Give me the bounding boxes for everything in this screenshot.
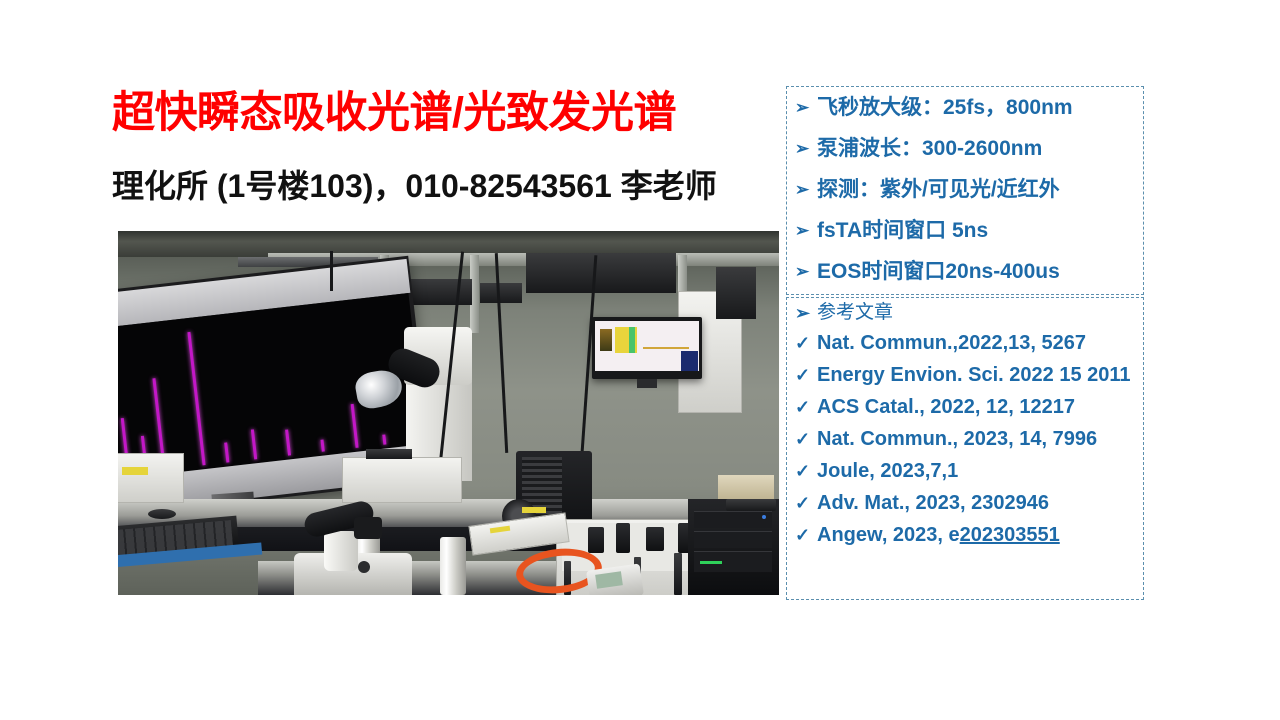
reference-item: ✓Joule, 2023,7,1	[787, 456, 1143, 488]
reference-item-label: Nat. Commun., 2023, 14, 7996	[817, 427, 1143, 451]
photo-dark-module-right	[716, 267, 756, 319]
photo-monitor-thumbnail	[600, 329, 612, 351]
check-bullet-icon: ✓	[795, 459, 817, 483]
photo-monitor-trace	[643, 347, 689, 349]
photo-optic-mount-b	[616, 523, 630, 553]
reference-text-underlined[interactable]: 202303551	[960, 524, 1060, 546]
photo-optic-mount-c	[646, 527, 664, 551]
photo-optic-mount-a	[588, 527, 604, 553]
reference-item: ✓Angew, 2023, e202303551	[787, 520, 1143, 552]
spec-item: ➢泵浦波长：300-2600nm	[787, 128, 1143, 169]
page-subtitle: 理化所 (1号楼103)，010-82543561 李老师	[112, 165, 802, 207]
check-bullet-icon: ✓	[795, 523, 817, 547]
spec-item-label: 探测：紫外/可见光/近红外	[817, 177, 1143, 203]
reference-item-label: ACS Catal., 2022, 12, 12217	[817, 395, 1143, 419]
specifications-panel: ➢飞秒放大级：25fs，800nm➢泵浦波长：300-2600nm➢探测：紫外/…	[786, 86, 1144, 295]
reference-item: ✓Energy Envion. Sci. 2022 15 2011	[787, 360, 1143, 392]
photo-shelf-instrument-a	[410, 279, 472, 305]
photo-monitor-blue-panel	[681, 351, 698, 371]
photo-mouse	[148, 509, 176, 519]
reference-item-label: Joule, 2023,7,1	[817, 459, 1143, 483]
photo-microscope-focus-knob	[358, 561, 370, 573]
reference-item-label: Nat. Commun.,2022,13, 5267	[817, 331, 1143, 355]
reference-item: ✓ACS Catal., 2022, 12, 12217	[787, 392, 1143, 424]
photo-spectrometer-box	[342, 457, 462, 503]
photo-rack-slot-b	[694, 531, 772, 548]
spec-item-label: EOS时间窗口20ns-400us	[817, 259, 1143, 285]
photo-secondary-monitor-stand	[637, 379, 657, 388]
spec-item-label: 泵浦波长：300-2600nm	[817, 136, 1143, 162]
spec-item: ➢探测：紫外/可见光/近红外	[787, 169, 1143, 210]
photo-cable-d	[330, 251, 333, 291]
arrow-bullet-icon: ➢	[795, 95, 817, 121]
check-bullet-icon: ✓	[795, 395, 817, 419]
arrow-bullet-icon: ➢	[795, 218, 817, 244]
spec-item: ➢飞秒放大级：25fs，800nm	[787, 87, 1143, 128]
photo-rack-keyboard	[726, 499, 776, 511]
photo-rack-led-green	[700, 561, 722, 564]
arrow-bullet-icon: ➢	[795, 301, 817, 325]
reference-item: ✓Adv. Mat., 2023, 2302946	[787, 488, 1143, 520]
reference-item-label: Angew, 2023, e202303551	[817, 523, 1143, 547]
photo-overhead-box	[526, 253, 676, 293]
arrow-bullet-icon: ➢	[795, 136, 817, 162]
spec-item-label: fsTA时间窗口 5ns	[817, 218, 1143, 244]
photo-optic-post-c	[674, 553, 682, 595]
photo-spectrometer-top	[366, 449, 412, 459]
photo-cylinder-post-b	[440, 537, 466, 595]
reference-item-label: Energy Envion. Sci. 2022 15 2011	[817, 363, 1143, 387]
lab-photograph: DELL	[118, 231, 779, 595]
check-bullet-icon: ✓	[795, 363, 817, 387]
photo-secondary-monitor-screen	[595, 321, 699, 371]
photo-rack-led-blue	[762, 515, 766, 519]
spec-item: ➢fsTA时间窗口 5ns	[787, 210, 1143, 251]
references-heading-label: 参考文章	[817, 301, 1143, 325]
check-bullet-icon: ✓	[795, 427, 817, 451]
page-title: 超快瞬态吸收光谱/光致发光谱	[112, 86, 792, 140]
photo-foreground-microscope-eyepiece	[354, 517, 382, 539]
photo-monitor-green-band	[629, 327, 635, 353]
photo-foreground-microscope-neck	[324, 531, 358, 571]
arrow-bullet-icon: ➢	[795, 259, 817, 285]
spec-item-label: 飞秒放大级：25fs，800nm	[817, 95, 1143, 121]
spec-item: ➢EOS时间窗口20ns-400us	[787, 251, 1143, 292]
reference-item: ✓Nat. Commun.,2022,13, 5267	[787, 328, 1143, 360]
specifications-list: ➢飞秒放大级：25fs，800nm➢泵浦波长：300-2600nm➢探测：紫外/…	[787, 87, 1143, 292]
check-bullet-icon: ✓	[795, 491, 817, 515]
references-list: ➢参考文章✓Nat. Commun.,2022,13, 5267✓Energy …	[787, 298, 1143, 552]
photo-rack-slot-a	[694, 511, 772, 528]
references-panel: ➢参考文章✓Nat. Commun.,2022,13, 5267✓Energy …	[786, 297, 1144, 600]
photo-shelf-instrument-b	[480, 283, 522, 303]
photo-left-instrument	[118, 453, 184, 503]
check-bullet-icon: ✓	[795, 331, 817, 355]
reference-item: ✓Nat. Commun., 2023, 14, 7996	[787, 424, 1143, 456]
photo-laser-warning-label	[522, 507, 546, 513]
reference-item-label: Adv. Mat., 2023, 2302946	[817, 491, 1143, 515]
references-heading-row: ➢参考文章	[787, 298, 1143, 328]
reference-text-plain: Angew, 2023, e	[817, 524, 960, 546]
photo-secondary-monitor	[592, 317, 702, 379]
photo-yellow-label	[122, 467, 148, 475]
photo-paper-tray	[718, 475, 774, 499]
arrow-bullet-icon: ➢	[795, 177, 817, 203]
